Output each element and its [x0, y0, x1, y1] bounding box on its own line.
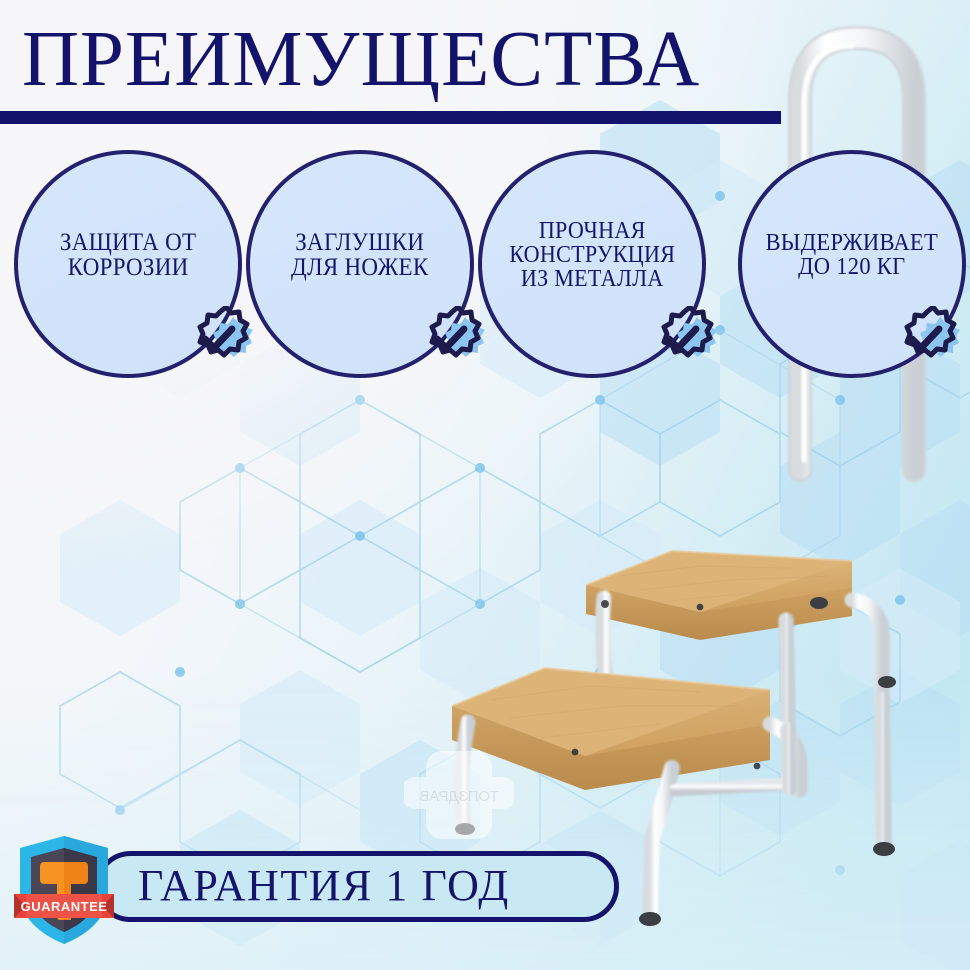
check-badge-icon	[418, 306, 486, 374]
medical-cross-watermark: ТОПЗДРАВ	[404, 745, 514, 845]
guarantee-shield-hammer-icon: GUARANTEE	[12, 832, 116, 948]
guarantee-ribbon-text: GUARANTEE	[21, 899, 108, 914]
check-badge-icon	[186, 306, 254, 374]
feature-label: ЗАГЛУШКИ ДЛЯ НОЖЕК	[286, 230, 435, 280]
features-row: ЗАЩИТА ОТ КОРРОЗИИ ЗАГЛУШКИ ДЛЯ НОЖЕК ПР…	[0, 0, 970, 400]
feature-label: ПРОЧНАЯ КОНСТРУКЦИЯ ИЗ МЕТАЛЛА	[503, 219, 680, 291]
infographic-canvas: ТОПЗДРАВ ПРЕИМУЩЕСТВА ЗАЩИТА ОТ КОРРОЗИИ…	[0, 0, 970, 970]
guarantee-banner[interactable]: ГАРАНТИЯ 1 ГОД	[95, 851, 619, 922]
check-badge-icon	[893, 306, 961, 374]
feature-label: ВЫДЕРЖИВАЕТ ДО 120 КГ	[760, 231, 944, 280]
check-badge-icon	[650, 306, 718, 374]
guarantee-label: ГАРАНТИЯ 1 ГОД	[100, 864, 510, 908]
watermark-text: ТОПЗДРАВ	[419, 788, 498, 805]
feature-label: ЗАЩИТА ОТ КОРРОЗИИ	[54, 230, 201, 280]
